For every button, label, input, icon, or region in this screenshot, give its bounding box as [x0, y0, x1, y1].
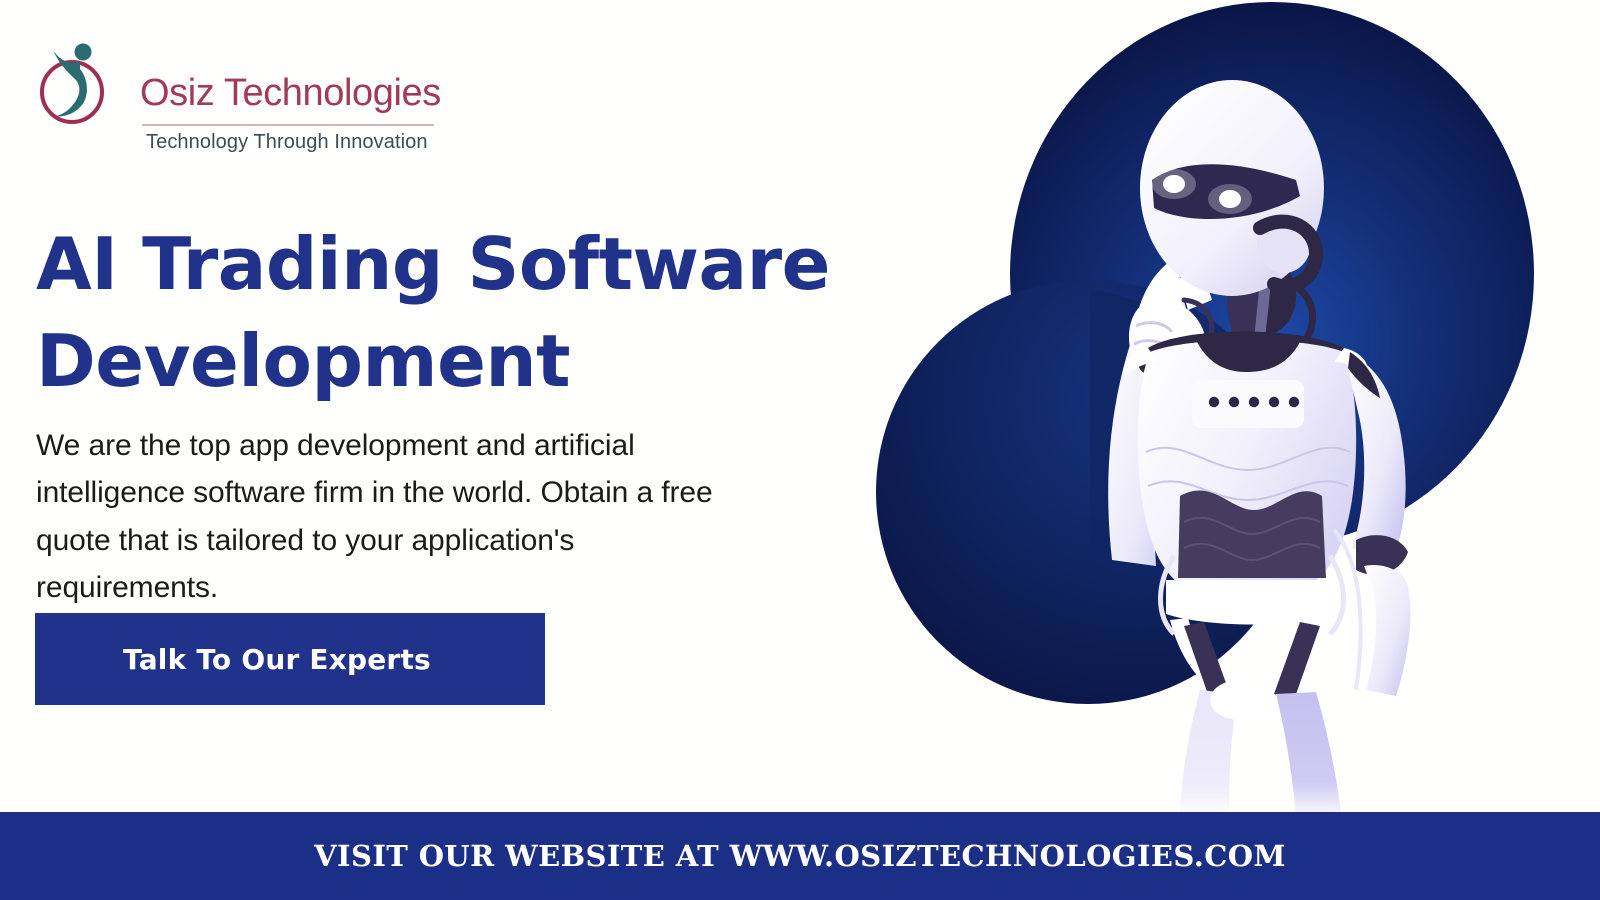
brand-logo[interactable]: Osiz Technologies Technology Through Inn…: [36, 34, 456, 134]
headline-line-1: AI Trading Software: [36, 216, 916, 312]
page-title: AI Trading Software Development: [36, 216, 916, 409]
talk-to-our-experts-button[interactable]: Talk To Our Experts: [35, 613, 545, 705]
logo-wordmark: Osiz Technologies: [140, 74, 441, 112]
robot-legs: [1180, 680, 1342, 820]
logo-tagline: Technology Through Innovation: [146, 130, 428, 154]
promotional-banner: Osiz Technologies Technology Through Inn…: [0, 0, 1600, 900]
hero-description: We are the top app development and artif…: [36, 422, 751, 612]
logo-divider: [142, 124, 434, 126]
osiz-human-figure-circle-icon: [36, 36, 112, 128]
ai-robot-illustration: [760, 0, 1600, 820]
robot-head: [1140, 80, 1324, 296]
robot-torso: [1138, 332, 1357, 625]
footer-website-text: VISIT OUR WEBSITE AT WWW.OSIZTECHNOLOGIE…: [314, 839, 1286, 873]
website-footer-bar: VISIT OUR WEBSITE AT WWW.OSIZTECHNOLOGIE…: [0, 812, 1600, 900]
headline-line-2: Development: [36, 313, 916, 409]
cta-button-label: Talk To Our Experts: [123, 643, 431, 676]
